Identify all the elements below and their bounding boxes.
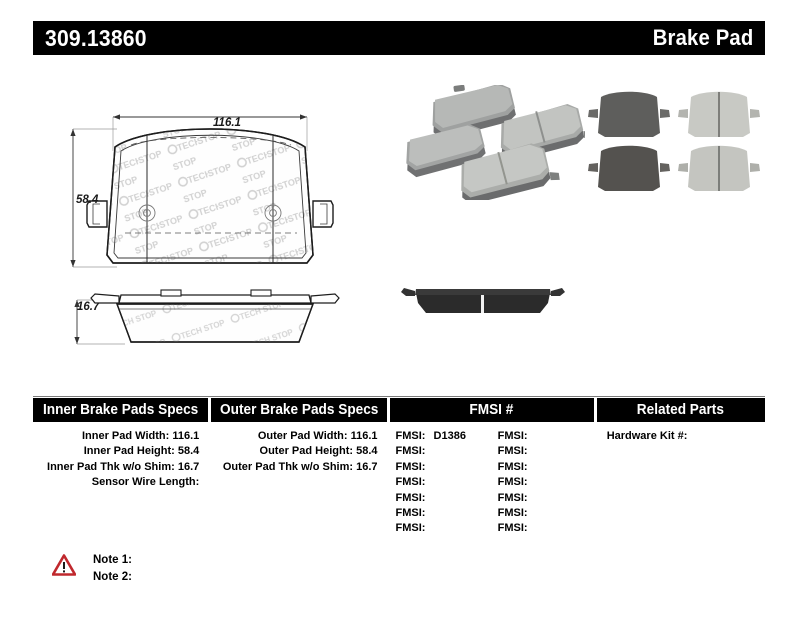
fmsi-value xyxy=(425,445,430,457)
fmsi-label: FMSI: xyxy=(498,445,528,457)
fmsi-label: FMSI: xyxy=(498,430,528,442)
header-bar: 309.13860 Brake Pad xyxy=(33,21,765,55)
note-line-2: Note 2: xyxy=(93,569,132,586)
spec-value: 16.7 xyxy=(178,461,199,473)
fmsi-value xyxy=(425,476,430,488)
fmsi-row: FMSI: xyxy=(492,491,594,506)
spec-value: 58.4 xyxy=(356,445,377,457)
spec-label: Outer Pad Thk w/o Shim: xyxy=(223,461,353,473)
fmsi-label: FMSI: xyxy=(498,507,528,519)
related-parts-row: Hardware Kit #: xyxy=(597,429,765,444)
fmsi-value: D1386 xyxy=(429,430,466,442)
spec-label: Outer Pad Height: xyxy=(260,445,354,457)
fmsi-row: FMSI: xyxy=(492,521,594,536)
spec-value: 58.4 xyxy=(178,445,199,457)
fmsi-row: FMSI: D1386 xyxy=(390,429,492,444)
pad-edge-drawing: STOP TECH xyxy=(55,272,385,362)
product-photo-pad-grid xyxy=(585,85,765,197)
fmsi-row: FMSI: xyxy=(492,444,594,459)
spec-value: 116.1 xyxy=(172,430,199,442)
notes-section: Note 1: Note 2: xyxy=(52,552,132,586)
fmsi-label: FMSI: xyxy=(498,522,528,534)
part-number: 309.13860 xyxy=(45,25,147,52)
table-header-outer-specs: Outer Brake Pads Specs xyxy=(211,398,386,422)
fmsi-row: FMSI: xyxy=(390,475,492,490)
fmsi-label: FMSI: xyxy=(498,492,528,504)
page-title: Brake Pad xyxy=(652,25,753,51)
spec-label: Sensor Wire Length: xyxy=(92,476,199,488)
spec-row: Outer Pad Height: 58.4 xyxy=(211,444,386,459)
outer-specs-column: Outer Pad Width: 116.1 Outer Pad Height:… xyxy=(211,429,386,537)
spec-label: Inner Pad Width: xyxy=(82,430,169,442)
fmsi-row: FMSI: xyxy=(492,506,594,521)
drawing-area: STOP TECH TECH STOP xyxy=(0,60,800,390)
inner-specs-column: Inner Pad Width: 116.1 Inner Pad Height:… xyxy=(33,429,208,537)
fmsi-subcolumn-1: FMSI: D1386 FMSI: FMSI: FMSI: FMSI: xyxy=(390,429,492,537)
fmsi-row: FMSI: xyxy=(390,521,492,536)
table-header-related-parts: Related Parts xyxy=(597,398,765,422)
table-top-divider xyxy=(33,396,765,397)
fmsi-label: FMSI: xyxy=(396,461,426,473)
related-parts-column: Hardware Kit #: xyxy=(597,429,765,537)
fmsi-value xyxy=(528,461,533,473)
spec-value: 16.7 xyxy=(356,461,377,473)
fmsi-column: FMSI: D1386 FMSI: FMSI: FMSI: FMSI: xyxy=(390,429,594,537)
spec-label: Inner Pad Thk w/o Shim: xyxy=(47,461,175,473)
dimension-label-width: 116.1 xyxy=(213,117,241,129)
fmsi-value xyxy=(528,445,533,457)
fmsi-value xyxy=(528,492,533,504)
fmsi-value xyxy=(528,430,533,442)
fmsi-label: FMSI: xyxy=(498,476,528,488)
table-header-row: Inner Brake Pads Specs Outer Brake Pads … xyxy=(33,398,765,422)
fmsi-label: FMSI: xyxy=(396,492,426,504)
dimension-label-height: 58.4 xyxy=(76,194,98,206)
fmsi-row: FMSI: xyxy=(390,491,492,506)
table-body-row: Inner Pad Width: 116.1 Inner Pad Height:… xyxy=(33,429,765,537)
table-header-fmsi: FMSI # xyxy=(390,398,594,422)
fmsi-row: FMSI: xyxy=(390,506,492,521)
fmsi-row: FMSI: xyxy=(390,444,492,459)
fmsi-value xyxy=(528,522,533,534)
fmsi-row: FMSI: xyxy=(492,460,594,475)
fmsi-label: FMSI: xyxy=(498,461,528,473)
notes-text: Note 1: Note 2: xyxy=(93,552,132,586)
spec-label: Inner Pad Height: xyxy=(84,445,175,457)
fmsi-value xyxy=(425,492,430,504)
warning-triangle-icon xyxy=(52,554,76,576)
fmsi-subcolumn-2: FMSI: FMSI: FMSI: FMSI: FMSI: xyxy=(492,429,594,537)
spec-row: Outer Pad Thk w/o Shim: 16.7 xyxy=(211,460,386,475)
note-line-1: Note 1: xyxy=(93,552,132,569)
fmsi-label: FMSI: xyxy=(396,522,426,534)
fmsi-value xyxy=(425,461,430,473)
spec-row: Inner Pad Height: 58.4 xyxy=(33,444,208,459)
fmsi-value xyxy=(425,507,430,519)
fmsi-label: FMSI: xyxy=(396,476,426,488)
fmsi-value xyxy=(425,522,430,534)
spec-row: Inner Pad Thk w/o Shim: 16.7 xyxy=(33,460,208,475)
table-header-inner-specs: Inner Brake Pads Specs xyxy=(33,398,208,422)
fmsi-row: FMSI: xyxy=(492,475,594,490)
fmsi-label: FMSI: xyxy=(396,507,426,519)
fmsi-value xyxy=(528,476,533,488)
spec-value: 116.1 xyxy=(351,430,378,442)
spec-row: Sensor Wire Length: xyxy=(33,475,208,490)
spec-row: Inner Pad Width: 116.1 xyxy=(33,429,208,444)
fmsi-row: FMSI: xyxy=(390,460,492,475)
related-parts-label: Hardware Kit #: xyxy=(607,430,688,442)
fmsi-row: FMSI: xyxy=(492,429,594,444)
fmsi-label: FMSI: xyxy=(396,445,426,457)
product-photo-pad-group-angled xyxy=(400,85,585,200)
spec-table: Inner Brake Pads Specs Outer Brake Pads … xyxy=(33,398,765,537)
spec-row: Outer Pad Width: 116.1 xyxy=(211,429,386,444)
spec-label: Outer Pad Width: xyxy=(258,430,348,442)
pad-face-drawing: STOP TECH TECH STOP xyxy=(55,105,385,295)
fmsi-label: FMSI: xyxy=(396,430,426,442)
product-photo-pad-edge xyxy=(398,275,568,333)
fmsi-value xyxy=(528,507,533,519)
